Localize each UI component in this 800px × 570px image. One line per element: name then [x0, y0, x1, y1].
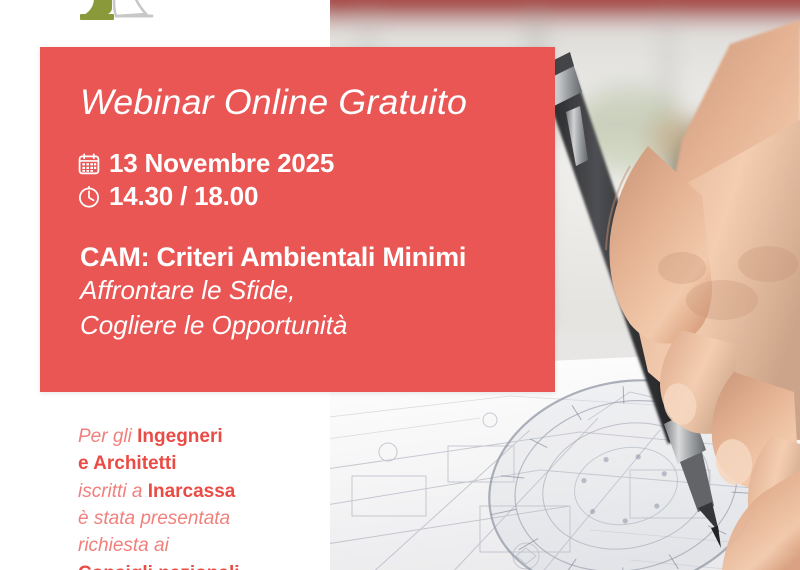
event-subtitle-line-1: Affrontare le Sfide,: [80, 273, 540, 307]
credits-line3-light: iscritti a: [78, 481, 148, 502]
credits-note-line-3: iscritti a Inarcassa: [78, 478, 313, 505]
credits-line3-bold: Inarcassa: [148, 481, 236, 502]
event-title-main: CAM: Criteri Ambientali Minimi: [80, 242, 540, 273]
credits-note-line-4: è stata presentata: [78, 505, 313, 532]
credits-line4-light: è stata presentata: [78, 508, 230, 529]
credits-note-line-5: richiesta ai: [78, 532, 313, 559]
credits-line5-light: richiesta ai: [78, 535, 169, 556]
column-capital-logo: [72, 0, 158, 24]
credits-line2-bold: e Architetti: [78, 453, 177, 474]
credits-note-line-2: e Architetti: [78, 450, 313, 477]
credits-note-line-6: Consigli nazionali: [78, 560, 313, 570]
credits-line1-bold: Ingegneri: [137, 426, 223, 447]
webinar-kicker: Webinar Online Gratuito: [80, 83, 467, 123]
poster-root: Webinar Online Gratuito: [0, 0, 800, 570]
credits-line1-light: Per gli: [78, 426, 137, 447]
webinar-red-panel: Webinar Online Gratuito: [40, 47, 555, 392]
event-time-row: 14.30 / 18.00: [78, 180, 334, 213]
credits-note-line-1: Per gli Ingegneri: [78, 423, 313, 450]
calendar-icon: [78, 153, 100, 175]
event-title-block: CAM: Criteri Ambientali Minimi Affrontar…: [80, 242, 540, 342]
credits-line6-bold: Consigli nazionali: [78, 563, 240, 570]
event-subtitle-line-2: Cogliere le Opportunità: [80, 308, 540, 342]
clock-icon: [78, 186, 100, 208]
event-meta: 13 Novembre 2025 14.30 / 18.00: [78, 147, 334, 213]
event-date-row: 13 Novembre 2025: [78, 147, 334, 180]
event-time-text: 14.30 / 18.00: [109, 181, 258, 212]
credits-note: Per gli Ingegneri e Architetti iscritti …: [78, 423, 313, 570]
event-date-text: 13 Novembre 2025: [109, 148, 334, 179]
